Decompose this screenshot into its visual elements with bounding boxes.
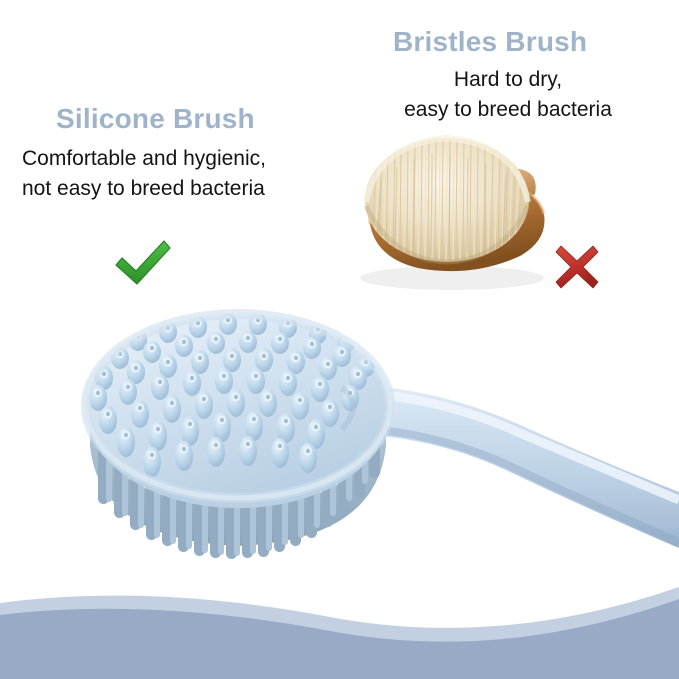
bottom-wave-decoration bbox=[0, 559, 679, 679]
silicone-brush-photo bbox=[78, 296, 679, 586]
bristles-brush-photo bbox=[352, 128, 577, 308]
silicone-description-line-2: not easy to breed bacteria bbox=[22, 174, 266, 204]
bristles-brush-heading: Bristles Brush bbox=[393, 26, 587, 58]
silicone-brush-description: Comfortable and hygienic, not easy to br… bbox=[22, 144, 266, 204]
bristles-description-line-2: easy to breed bacteria bbox=[383, 95, 633, 125]
silicone-brush-heading: Silicone Brush bbox=[56, 103, 255, 135]
wave-dark-layer bbox=[0, 599, 679, 679]
bristles-brush-description: Hard to dry, easy to breed bacteria bbox=[383, 65, 633, 125]
silicone-description-line-1: Comfortable and hygienic, bbox=[22, 144, 266, 174]
check-icon bbox=[112, 235, 174, 293]
bristles-description-line-1: Hard to dry, bbox=[383, 65, 633, 95]
product-comparison-image: Silicone Brush Comfortable and hygienic,… bbox=[0, 0, 679, 679]
